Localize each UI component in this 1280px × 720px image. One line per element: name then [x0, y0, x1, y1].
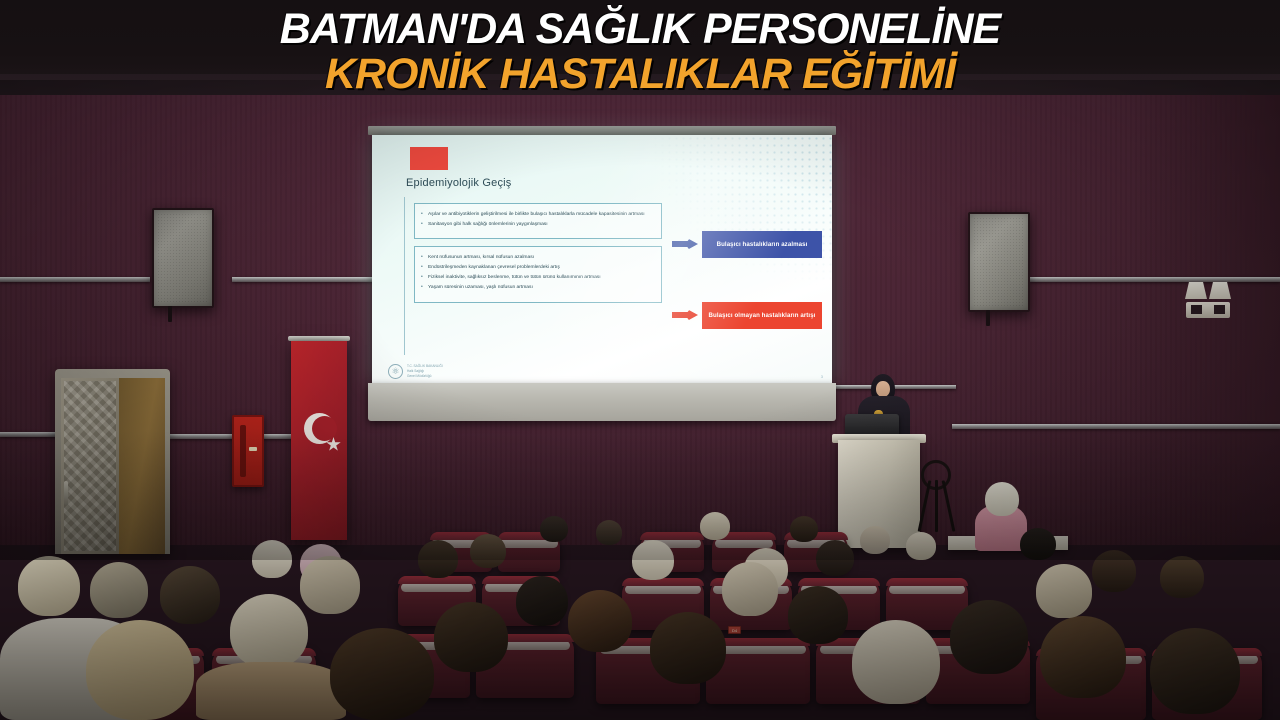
attendee-head — [568, 590, 632, 652]
attendee-head — [790, 516, 818, 542]
attendee-head — [1150, 628, 1240, 714]
headline-line-1: BATMAN'DA SAĞLIK PERSONELİNE — [0, 8, 1280, 50]
arrow-right-icon — [672, 309, 698, 322]
slide-result-row-1: Bulaşıcı hastalıkların azalması — [672, 231, 822, 258]
slide-result-box-1: Bulaşıcı hastalıkların azalması — [702, 231, 822, 258]
ministry-of-health-emblem-icon: ⚛ — [388, 364, 403, 379]
slide-result-row-2: Bulaşıcı olmayan hastalıkların artışı — [672, 302, 822, 329]
screen-roller-bar — [368, 126, 836, 135]
headline-line-2: KRONİK HASTALIKLAR EĞİTİMİ — [0, 53, 1280, 95]
attendee-head — [1092, 550, 1136, 592]
wall-trim-strip — [170, 434, 292, 439]
slide-bullet: Sanitasyon gibi halk sağlığı önlemlerini… — [421, 221, 654, 229]
auditorium-photograph: Epidemiyolojik Geçiş Aşılar ve antibiyot… — [0, 0, 1280, 720]
attendee-head — [816, 540, 854, 576]
speaker-mount — [986, 310, 990, 326]
slide-page-number: 3 — [821, 374, 823, 379]
wall-speaker — [968, 212, 1030, 312]
slide-bullet: Kent nüfusunun artması, kırsal nüfusun a… — [421, 254, 654, 262]
attendee-head — [1040, 616, 1126, 698]
slide-title: Epidemiyolojik Geçiş — [406, 177, 818, 189]
attendee-head-scarf — [230, 594, 308, 668]
slide-footer: ⚛ T.C. SAĞLIK BAKANLIĞI Halk Sağlığı Gen… — [388, 364, 443, 379]
presenter-face — [876, 381, 890, 397]
wall-trim-strip — [0, 277, 150, 282]
attendee-head — [418, 540, 458, 578]
attendee-head — [470, 534, 506, 568]
attendee-head — [596, 520, 622, 545]
attendee-head-scarf — [18, 556, 80, 616]
crescent-icon — [304, 413, 335, 444]
wall-trim-strip — [1030, 277, 1280, 282]
attendee-head-scarf — [852, 620, 940, 704]
attendee-head-scarf — [300, 556, 360, 614]
lamp-shade — [1209, 282, 1231, 299]
screen-bottom-panel — [368, 383, 836, 421]
slide-bullet: Fiziksel inaktivite, sağlıksız beslenme,… — [421, 274, 654, 282]
attendee-head — [516, 576, 568, 626]
attendee-head-scarf — [906, 532, 936, 560]
attendee-head — [160, 566, 220, 624]
attendee-head-scarf — [90, 562, 148, 618]
wall-sconce-lamp — [1178, 280, 1238, 328]
presentation-slide: Epidemiyolojik Geçiş Aşılar ve antibiyot… — [372, 135, 832, 385]
slide-text-box-1: Aşılar ve antibiyotiklerin geliştirilmes… — [414, 203, 662, 239]
attendee-head — [330, 628, 434, 720]
slide-footer-line-3: Genel Müdürlüğü — [407, 374, 443, 379]
slide-text-box-2: Kent nüfusunun artması, kırsal nüfusun a… — [414, 246, 662, 302]
slide-result-box-2: Bulaşıcı olmayan hastalıkların artışı — [702, 302, 822, 329]
sconce-plate — [1186, 302, 1230, 318]
attendee-head — [434, 602, 508, 672]
attendee-head — [650, 612, 726, 684]
wall-trim-strip — [232, 277, 382, 282]
attendee-head-scarf — [722, 562, 778, 616]
wall-trim-strip — [836, 385, 956, 389]
fire-hose-cabinet — [232, 415, 264, 487]
projection-screen: Epidemiyolojik Geçiş Aşılar ve antibiyot… — [372, 126, 832, 416]
speaker-mount — [168, 306, 172, 322]
wall-trim-strip — [0, 432, 62, 437]
attendee-head-scarf — [632, 540, 674, 580]
arrow-right-icon — [672, 238, 698, 251]
headline: BATMAN'DA SAĞLIK PERSONELİNE KRONİK HAST… — [0, 0, 1280, 95]
attendee-shoulders — [196, 662, 346, 720]
seat-number-plate: D4 — [728, 626, 741, 634]
attendee-head-scarf — [252, 540, 292, 578]
attendee-head — [788, 586, 848, 644]
attendee-head — [540, 516, 568, 542]
wall-trim-strip — [952, 424, 1280, 429]
attendee-head — [950, 600, 1028, 674]
slide-accent-square — [410, 147, 448, 170]
attendee-head-blonde — [86, 620, 194, 720]
news-photo-composite: Epidemiyolojik Geçiş Aşılar ve antibiyot… — [0, 0, 1280, 720]
attendee-head-scarf — [860, 526, 890, 554]
attendee-head-scarf — [1036, 564, 1092, 618]
slide-left-rule — [404, 197, 405, 355]
slide-bullet: Yaşam süresinin uzaması, yaşlı nüfusun a… — [421, 284, 654, 292]
attendee-head — [1160, 556, 1204, 598]
slide-bullet: Endüstrileşmeden kaynaklanan çevresel pr… — [421, 264, 654, 272]
attendee-head-scarf — [700, 512, 730, 540]
slide-bullet: Aşılar ve antibiyotiklerin geliştirilmes… — [421, 211, 654, 219]
wall-speaker — [152, 208, 214, 308]
lamp-shade — [1185, 282, 1207, 299]
